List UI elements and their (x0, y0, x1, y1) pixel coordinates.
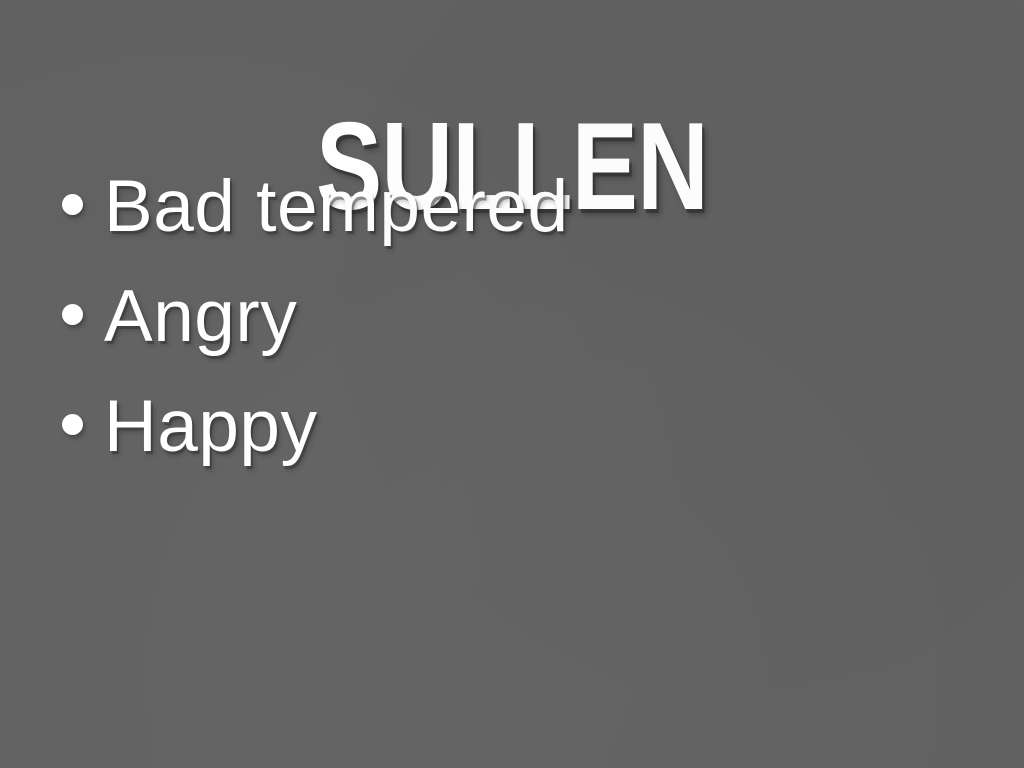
list-item-label: Bad tempered (104, 164, 569, 250)
presentation-slide: SULLEN Bad tempered Angry Happy (0, 0, 1024, 768)
list-item: Bad tempered (62, 164, 962, 274)
list-item-label: Happy (104, 384, 318, 470)
bullet-dot-icon (62, 194, 83, 215)
list-item: Happy (62, 384, 962, 494)
list-item: Angry (62, 274, 962, 384)
bullet-dot-icon (62, 414, 83, 435)
bullet-dot-icon (62, 304, 83, 325)
list-item-label: Angry (104, 274, 297, 360)
bullet-list: Bad tempered Angry Happy (62, 164, 962, 494)
